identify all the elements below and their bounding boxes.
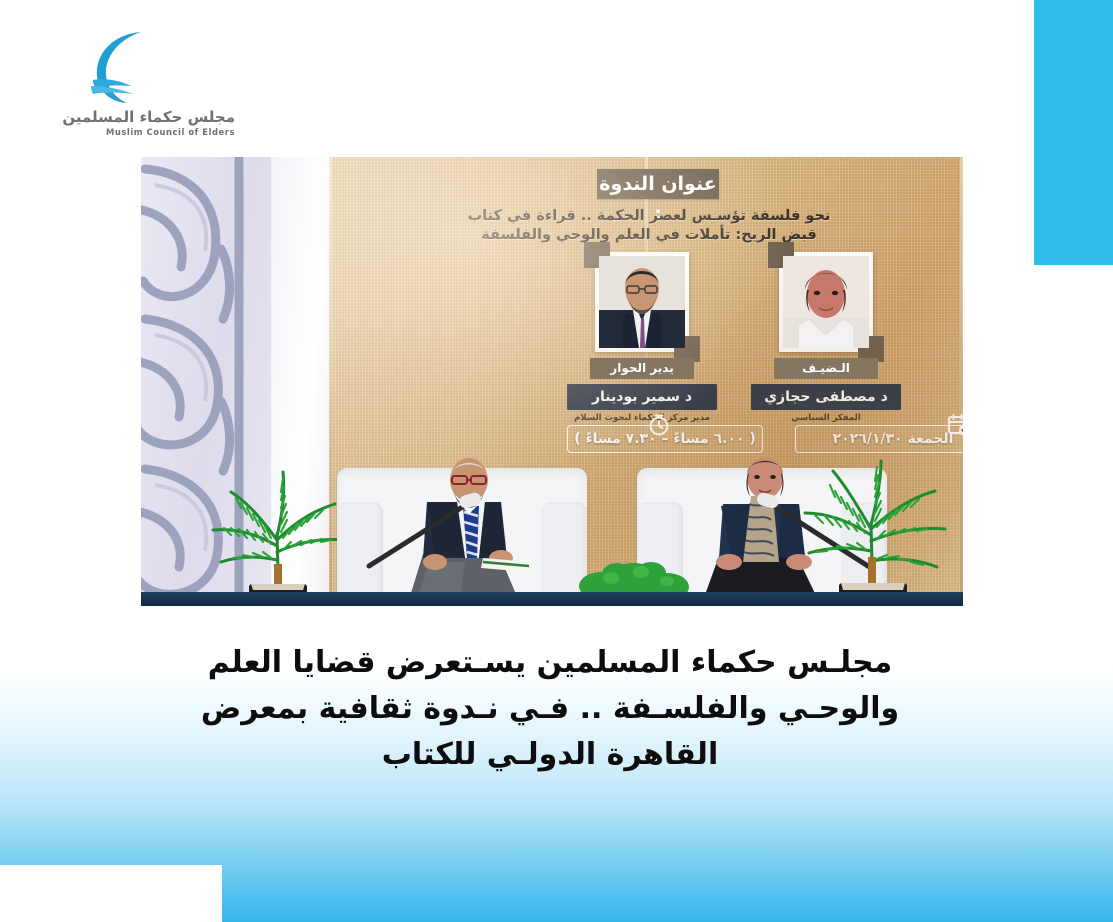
moderator-role-chip: يدير الحوار bbox=[590, 358, 694, 379]
seminar-title-chip: عنوان الندوة : bbox=[597, 169, 719, 199]
calendar-check-icon bbox=[946, 412, 963, 438]
headline-line-3: القاهرة الدولـي للكتاب bbox=[150, 732, 950, 778]
guest-role-chip: الـضيـف bbox=[774, 358, 878, 379]
seminar-title-line-2: قبض الريح: تأملات في العلم والوحي والفلس… bbox=[369, 226, 929, 245]
social-media-post: مجلس حكماء المسلمين Muslim Council of El… bbox=[0, 0, 1113, 922]
brand-name-arabic: مجلس حكماء المسلمين bbox=[55, 108, 235, 126]
post-headline: مجلـس حكماء المسلمين يسـتعرض قضايا العلم… bbox=[150, 640, 950, 778]
decorative-block-bottom-left bbox=[0, 865, 222, 922]
brand-name-english: Muslim Council of Elders bbox=[55, 127, 235, 137]
headline-line-2: والوحـي والفلسـفة .. فـي نـدوة ثقافية بم… bbox=[150, 686, 950, 732]
headline-line-1: مجلـس حكماء المسلمين يسـتعرض قضايا العلم bbox=[150, 640, 950, 686]
guest-subtitle: المفكر السياسي bbox=[736, 413, 916, 423]
clock-icon bbox=[646, 412, 672, 438]
moderator-name-plate: د سمير بودينار bbox=[567, 384, 717, 410]
microphone-left bbox=[363, 492, 483, 570]
guest-portrait bbox=[783, 256, 869, 348]
plant-right bbox=[777, 457, 963, 606]
guest-photo-frame bbox=[779, 252, 873, 352]
moderator-portrait bbox=[599, 256, 685, 348]
stage-floor bbox=[141, 592, 963, 606]
event-time-pill: ( ٦.٠٠ مساءً – ٧.٣٠ مساءً ) bbox=[567, 425, 763, 453]
crescent-moon-dove-logo-icon bbox=[75, 28, 165, 106]
stage-area bbox=[141, 457, 963, 606]
seminar-title-line-1: نحو فلسفة تؤسـس لعصر الحكمة .. قراءة في … bbox=[369, 207, 929, 226]
guest-role-label: الـضيـف bbox=[774, 358, 878, 379]
moderator-name-label: د سمير بودينار bbox=[567, 384, 717, 410]
event-date-label: الجمعة ٢٠٢٦/١/٣٠ bbox=[796, 426, 963, 452]
guest-name-label: د مصطفى حجازي bbox=[751, 384, 901, 410]
moderator-role-label: يدير الحوار bbox=[590, 358, 694, 379]
seminar-title-text: نحو فلسفة تؤسـس لعصر الحكمة .. قراءة في … bbox=[369, 207, 929, 245]
speaker-card-moderator: يدير الحوار د سمير بودينار مدير مركز الح… bbox=[547, 252, 737, 423]
event-photo: عنوان الندوة : نحو فلسفة تؤسـس لعصر الحك… bbox=[141, 157, 963, 606]
plant-left bbox=[191, 456, 361, 606]
event-date-pill: الجمعة ٢٠٢٦/١/٣٠ bbox=[795, 425, 963, 453]
moderator-photo-frame bbox=[595, 252, 689, 352]
brand-logo: مجلس حكماء المسلمين Muslim Council of El… bbox=[55, 28, 235, 143]
decorative-block-top-right bbox=[1034, 0, 1113, 265]
moderator-subtitle: مدير مركز الحكماء لبحوث السلام bbox=[552, 413, 732, 423]
guest-name-plate: د مصطفى حجازي bbox=[751, 384, 901, 410]
speaker-card-guest: الـضيـف د مصطفى حجازي المفكر السياسي bbox=[731, 252, 921, 423]
